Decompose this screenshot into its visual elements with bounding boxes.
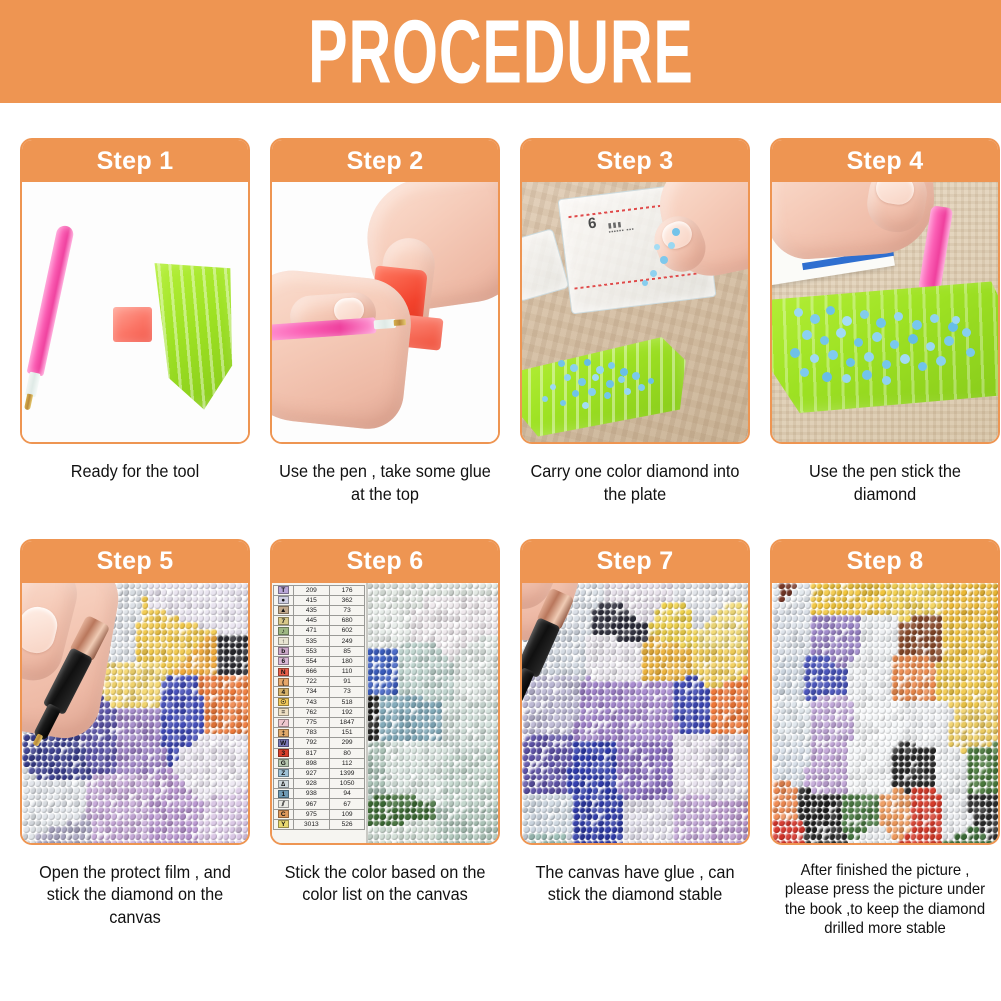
mosaic-bead: [73, 747, 79, 754]
mosaic-bead: [460, 609, 466, 616]
mosaic-bead: [479, 596, 485, 603]
mosaic-bead: [229, 807, 235, 814]
mosaic-bead: [641, 780, 647, 787]
color-count-cell: 526: [330, 819, 365, 829]
mosaic-bead: [391, 622, 397, 629]
mosaic-bead: [435, 767, 441, 774]
mosaic-bead: [398, 741, 404, 748]
mosaic-bead: [35, 754, 41, 761]
mosaic-bead: [80, 813, 86, 820]
mosaic-bead: [492, 609, 498, 616]
color-chart-row: C975109: [274, 809, 365, 819]
mosaic-bead: [654, 695, 660, 702]
mosaic-bead: [104, 695, 110, 702]
mosaic-row: [22, 807, 248, 814]
mosaic-bead: [30, 787, 36, 794]
mosaic-bead: [229, 688, 235, 695]
step-card-3: Step 3 6 ▮▮▮: [520, 138, 750, 506]
mosaic-bead: [148, 596, 154, 603]
mosaic-bead: [442, 583, 448, 590]
mosaic-bead: [685, 794, 691, 801]
mosaic-bead: [523, 721, 529, 728]
mosaic-bead: [411, 615, 417, 622]
mosaic-bead: [210, 840, 216, 843]
mosaic-bead: [629, 721, 635, 728]
mosaic-bead: [229, 767, 235, 774]
mosaic-bead: [742, 714, 748, 721]
mosaic-bead: [242, 794, 248, 801]
mosaic-bead: [104, 701, 110, 708]
color-symbol-cell: G: [274, 758, 294, 768]
mosaic-bead: [623, 675, 629, 682]
mosaic-bead: [186, 629, 192, 636]
mosaic-bead: [460, 800, 466, 807]
mosaic-bead: [154, 721, 160, 728]
mosaic-bead: [654, 747, 660, 754]
mosaic-bead: [805, 589, 811, 596]
mosaic-bead: [654, 721, 660, 728]
mosaic-bead: [73, 813, 79, 820]
mosaic-bead: [186, 800, 192, 807]
mosaic-bead: [35, 767, 41, 774]
mosaic-bead: [548, 813, 554, 820]
mosaic-bead: [685, 688, 691, 695]
mosaic-bead: [141, 728, 147, 735]
mosaic-bead: [386, 800, 392, 807]
mosaic-bead: [35, 807, 41, 814]
mosaic-bead: [936, 602, 942, 609]
mosaic-bead: [729, 701, 735, 708]
mosaic-bead: [73, 774, 79, 781]
mosaic-bead: [548, 787, 554, 794]
mosaic-bead: [486, 622, 492, 629]
mosaic-bead: [742, 688, 748, 695]
mosaic-bead: [148, 609, 154, 616]
mosaic-bead: [148, 714, 154, 721]
mosaic-bead: [379, 787, 385, 794]
mosaic-bead: [710, 794, 716, 801]
mosaic-bead: [666, 662, 672, 669]
mosaic-bead: [104, 747, 110, 754]
mosaic-bead: [154, 813, 160, 820]
mosaic-bead: [555, 774, 561, 781]
mosaic-bead: [229, 622, 235, 629]
mosaic-bead: [486, 794, 492, 801]
color-symbol-cell: C: [274, 809, 294, 819]
mosaic-bead: [572, 728, 578, 735]
mosaic-bead: [692, 622, 698, 629]
mosaic-bead: [555, 668, 561, 675]
color-count-cell: 94: [330, 789, 365, 799]
mosaic-bead: [597, 833, 603, 840]
mosaic-bead: [710, 774, 716, 781]
color-chart-row: =762192: [274, 707, 365, 717]
mosaic-bead: [580, 708, 586, 715]
mosaic-bead: [111, 787, 117, 794]
mosaic-bead: [229, 728, 235, 735]
mosaic-bead: [654, 787, 660, 794]
mosaic-bead: [886, 602, 892, 609]
mosaic-bead: [641, 767, 647, 774]
mosaic-bead: [391, 701, 397, 708]
mosaic-bead: [986, 596, 992, 603]
mosaic-bead: [492, 721, 498, 728]
mosaic-bead: [679, 681, 685, 688]
color-count-cell: 1847: [330, 717, 365, 727]
mosaic-bead: [742, 583, 748, 590]
mosaic-bead: [97, 754, 103, 761]
mosaic-bead: [104, 840, 110, 843]
mosaic-bead: [735, 708, 741, 715]
mosaic-row: [22, 820, 248, 827]
mosaic-bead: [492, 596, 498, 603]
mosaic-bead: [436, 695, 442, 702]
mosaic-bead: [616, 807, 622, 814]
mosaic-bead: [679, 615, 685, 622]
mosaic-bead: [185, 807, 191, 814]
mosaic-bead: [161, 681, 167, 688]
mosaic-bead: [686, 708, 692, 715]
mosaic-bead: [492, 826, 498, 833]
mosaic-bead: [485, 602, 491, 609]
mosaic-bead: [379, 629, 385, 636]
mosaic-bead: [629, 642, 635, 649]
mosaic-bead: [579, 714, 585, 721]
mosaic-bead: [210, 767, 216, 774]
mosaic-bead: [528, 754, 534, 761]
mosaic-bead: [104, 741, 110, 748]
mosaic-bead: [210, 741, 216, 748]
color-count-cell: 192: [330, 707, 365, 717]
color-count-cell: 73: [330, 687, 365, 697]
mosaic-bead: [235, 721, 241, 728]
mosaic-bead: [604, 708, 610, 715]
color-list-table: T209176●415362▲435737445680♪471602↑53524…: [272, 583, 368, 843]
mosaic-bead: [641, 754, 647, 761]
color-symbol-cell: b: [274, 646, 294, 656]
mosaic-bead: [442, 728, 448, 735]
step-6-image: T209176●415362▲435737445680♪471602↑53524…: [272, 583, 498, 843]
mosaic-bead: [636, 774, 642, 781]
mosaic-bead: [242, 655, 248, 662]
mosaic-bead: [573, 681, 579, 688]
mosaic-bead: [242, 807, 248, 814]
mosaic-bead: [854, 596, 860, 603]
mosaic-bead: [710, 655, 716, 662]
mosaic-bead: [436, 668, 442, 675]
mosaic-bead: [210, 833, 216, 840]
mosaic-bead: [235, 747, 241, 754]
mosaic-bead: [186, 813, 192, 820]
mosaic-bead: [379, 589, 385, 596]
mosaic-bead: [186, 655, 192, 662]
mosaic-row: [523, 681, 748, 688]
mosaic-bead: [492, 583, 498, 590]
mosaic-bead: [442, 754, 448, 761]
mosaic-bead: [579, 675, 585, 682]
mosaic-bead: [553, 833, 559, 840]
mosaic-bead: [141, 622, 147, 629]
mosaic-bead: [166, 701, 172, 708]
mosaic-bead: [386, 615, 392, 622]
mosaic-bead: [685, 648, 691, 655]
mosaic-bead: [710, 602, 716, 609]
mosaic-bead: [436, 681, 442, 688]
mosaic-bead: [710, 721, 716, 728]
mosaic-bead: [535, 767, 541, 774]
mosaic-bead: [141, 820, 147, 827]
mosaic-bead: [217, 602, 223, 609]
mosaic-bead: [136, 589, 142, 596]
mosaic-bead: [185, 794, 191, 801]
mosaic-bead: [742, 800, 748, 807]
mosaic-bead: [623, 701, 629, 708]
mosaic-bead: [579, 780, 585, 787]
mosaic-bead: [97, 820, 103, 827]
mosaic-bead: [161, 800, 167, 807]
mosaic-bead: [679, 589, 685, 596]
mosaic-bead: [411, 747, 417, 754]
mosaic-bead: [442, 714, 448, 721]
mosaic-bead: [166, 635, 172, 642]
mosaic-bead: [685, 583, 691, 590]
mosaic-bead: [161, 695, 167, 702]
mosaic-bead: [404, 681, 410, 688]
mosaic-bead: [616, 648, 622, 655]
mosaic-bead: [136, 615, 142, 622]
mosaic-bead: [416, 780, 422, 787]
mosaic-bead: [104, 787, 110, 794]
mosaic-bead: [623, 622, 629, 629]
mosaic-bead: [436, 774, 442, 781]
mosaic-bead: [573, 747, 579, 754]
mosaic-bead: [623, 688, 629, 695]
mosaic-bead: [648, 833, 654, 840]
mosaic-bead: [373, 728, 379, 735]
mosaic-bead: [548, 708, 554, 715]
mosaic-bead: [679, 826, 685, 833]
mosaic-bead: [391, 609, 397, 616]
mosaic-bead: [523, 840, 529, 843]
mosaic-bead: [136, 708, 142, 715]
mosaic-bead: [710, 714, 716, 721]
mosaic-bead: [435, 675, 441, 682]
step-7-image: [522, 583, 748, 843]
mosaic-bead: [486, 596, 492, 603]
mosaic-bead: [30, 800, 36, 807]
mosaic-bead: [729, 583, 735, 590]
mosaic-bead: [629, 761, 635, 768]
mosaic-bead: [555, 655, 561, 662]
mosaic-bead: [729, 807, 735, 814]
scene-hand-pen-canvas: [22, 583, 248, 843]
mosaic-bead: [523, 761, 529, 768]
mosaic-bead: [579, 648, 585, 655]
mosaic-bead: [641, 728, 647, 735]
mosaic-bead: [192, 609, 198, 616]
mosaic-bead: [648, 767, 654, 774]
mosaic-bead: [429, 826, 435, 833]
step-6-title: Step 6: [272, 541, 498, 583]
mosaic-bead: [616, 609, 622, 616]
color-chart-row: ∆9281050: [274, 779, 365, 789]
mosaic-bead: [572, 741, 578, 748]
mosaic-bead: [123, 583, 129, 590]
mosaic-bead: [141, 688, 147, 695]
mosaic-bead: [710, 780, 716, 787]
mosaic-bead: [580, 655, 586, 662]
mosaic-bead: [666, 780, 672, 787]
mosaic-bead: [179, 655, 185, 662]
mosaic-bead: [416, 701, 422, 708]
mosaic-bead: [492, 714, 498, 721]
mosaic-bead: [148, 833, 154, 840]
mosaic-bead: [235, 668, 241, 675]
mosaic-bead: [641, 701, 647, 708]
mosaic-bead: [604, 695, 610, 702]
mosaic-bead: [778, 596, 784, 603]
mosaic-bead: [666, 728, 672, 735]
mosaic-bead: [666, 794, 672, 801]
mosaic-bead: [379, 681, 385, 688]
mosaic-bead: [161, 747, 167, 754]
mosaic-bead: [492, 701, 498, 708]
mosaic-bead: [236, 833, 242, 840]
mosaic-bead: [616, 701, 622, 708]
mosaic-bead: [729, 833, 735, 840]
mosaic-bead: [72, 767, 78, 774]
mosaic-bead: [373, 675, 379, 682]
mosaic-bead: [210, 668, 216, 675]
mosaic-bead: [492, 813, 498, 820]
mosaic-bead: [692, 635, 698, 642]
mosaic-bead: [435, 820, 441, 827]
mosaic-bead: [229, 741, 235, 748]
mosaic-row: [523, 708, 748, 715]
mosaic-bead: [80, 747, 86, 754]
color-chart-row: (72291: [274, 677, 365, 687]
mosaic-bead: [629, 615, 635, 622]
mosaic-bead: [479, 728, 485, 735]
mosaic-bead: [717, 787, 723, 794]
color-chart-row: ●415362: [274, 595, 365, 605]
mosaic-bead: [572, 754, 578, 761]
mosaic-bead: [460, 629, 466, 636]
mosaic-bead: [648, 688, 654, 695]
mosaic-bead: [48, 787, 54, 794]
color-symbol-cell: ♪: [274, 626, 294, 636]
mosaic-bead: [104, 714, 110, 721]
mosaic-bead: [242, 833, 248, 840]
mosaic-bead: [492, 734, 498, 741]
mosaic-bead: [192, 648, 198, 655]
mosaic-bead: [729, 609, 735, 616]
mosaic-bead: [55, 840, 61, 843]
mosaic-bead: [460, 734, 466, 741]
mosaic-bead: [429, 761, 435, 768]
mosaic-bead: [23, 840, 29, 843]
mosaic-bead: [580, 813, 586, 820]
mosaic-bead: [573, 668, 579, 675]
mosaic-bead: [686, 589, 692, 596]
mosaic-bead: [436, 642, 442, 649]
step-card-1: Step 1: [20, 138, 250, 506]
mosaic-bead: [229, 754, 235, 761]
mosaic-bead: [479, 820, 485, 827]
mosaic-bead: [485, 615, 491, 622]
mosaic-bead: [429, 589, 435, 596]
mosaic-bead: [942, 583, 948, 590]
step-3-card: Step 3 6 ▮▮▮: [520, 138, 750, 444]
mosaic-bead: [386, 721, 392, 728]
mosaic-bead: [411, 708, 417, 715]
mosaic-bead: [736, 662, 742, 669]
mosaic-row: [23, 813, 248, 820]
mosaic-bead: [604, 688, 610, 695]
mosaic-bead: [530, 800, 536, 807]
mosaic-bead: [161, 840, 167, 843]
mosaic-bead: [416, 675, 422, 682]
mosaic-bead: [960, 596, 966, 603]
mosaic-bead: [492, 602, 498, 609]
mosaic-bead: [123, 635, 129, 642]
steps-row-2: Step 5: [0, 539, 1001, 939]
mosaic-bead: [236, 741, 242, 748]
mosaic-bead: [235, 761, 241, 768]
mosaic-bead: [735, 695, 741, 702]
color-code-cell: 775: [293, 717, 330, 727]
page-title: PROCEDURE: [308, 0, 693, 103]
color-count-cell: 85: [330, 646, 365, 656]
mosaic-bead: [572, 688, 578, 695]
mosaic-bead: [717, 813, 723, 820]
mosaic-bead: [710, 813, 716, 820]
mosaic-bead: [416, 714, 422, 721]
mosaic-bead: [242, 681, 248, 688]
mosaic-bead: [735, 840, 741, 843]
mosaic-bead: [129, 840, 135, 843]
color-code-cell: 553: [293, 646, 330, 656]
mosaic-bead: [97, 714, 103, 721]
mosaic-bead: [604, 820, 610, 827]
color-code-cell: 938: [293, 789, 330, 799]
mosaic-bead: [535, 754, 541, 761]
mosaic-bead: [555, 761, 561, 768]
mosaic-bead: [486, 583, 492, 590]
mosaic-bead: [778, 583, 784, 590]
color-chart-row: ‡783151: [274, 728, 365, 738]
mosaic-bead: [104, 807, 110, 814]
mosaic-row: [522, 701, 748, 708]
mosaic-bead: [830, 589, 836, 596]
mosaic-bead: [822, 583, 828, 590]
mosaic-bead: [641, 583, 647, 590]
color-code-cell: 928: [293, 779, 330, 789]
color-chart-row: T209176: [274, 585, 365, 595]
mosaic-bead: [373, 688, 379, 695]
mosaic-bead: [736, 583, 742, 590]
mosaic-bead: [386, 787, 392, 794]
mosaic-bead: [735, 642, 741, 649]
mosaic-bead: [154, 655, 160, 662]
mosaic-bead: [391, 583, 397, 590]
mosaic-bead: [411, 800, 417, 807]
mosaic-bead: [210, 780, 216, 787]
mosaic-bead: [435, 701, 441, 708]
mosaic-bead: [623, 794, 629, 801]
mosaic-row: [773, 602, 998, 609]
mosaic-bead: [604, 589, 610, 596]
